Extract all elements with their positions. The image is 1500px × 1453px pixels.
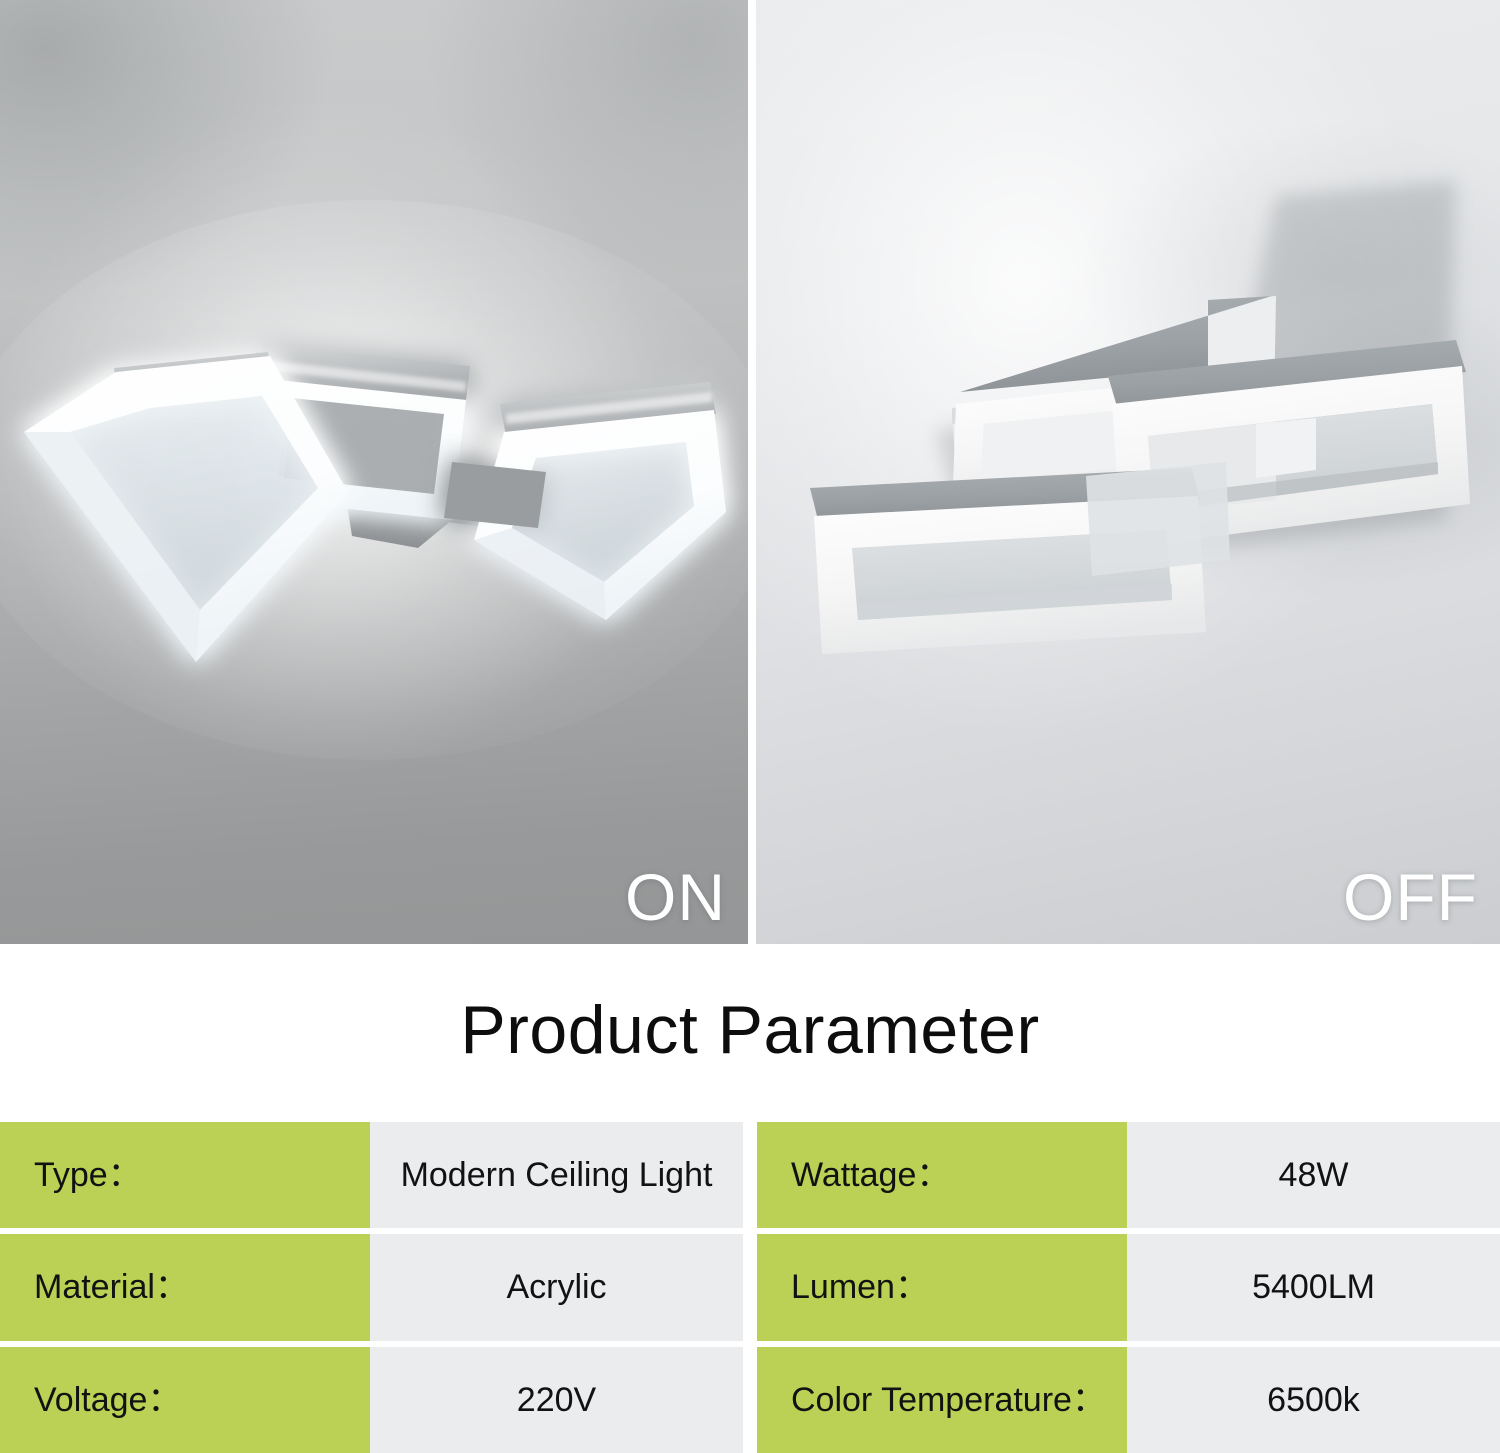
spec-label-text: Material： (34, 1270, 189, 1304)
photo-divider (748, 0, 756, 944)
spec-value-cell: 5400LM (1127, 1234, 1500, 1340)
product-photo-band: ON (0, 0, 1500, 944)
spec-table: Type： Modern Ceiling Light Material： Acr… (0, 1122, 1500, 1453)
spec-column-left: Type： Modern Ceiling Light Material： Acr… (0, 1122, 743, 1453)
page-title: Product Parameter (460, 996, 1039, 1070)
spec-row: Lumen： 5400LM (757, 1234, 1500, 1340)
page-title-wrap: Product Parameter (0, 944, 1500, 1122)
spec-label-cell: Voltage： (0, 1347, 370, 1453)
photo-state-label-on: ON (625, 864, 726, 930)
product-photo-off: OFF (756, 0, 1500, 944)
spec-value-cell: Acrylic (370, 1234, 743, 1340)
spec-value-text: 6500k (1267, 1383, 1360, 1417)
spec-value-cell: 48W (1127, 1122, 1500, 1228)
spec-column-right: Wattage： 48W Lumen： 5400LM Color Tempera… (757, 1122, 1500, 1453)
ceiling-light-fixture-off (756, 0, 1500, 944)
spec-value-cell: Modern Ceiling Light (370, 1122, 743, 1228)
fixture-mount-block (1086, 462, 1230, 576)
led-frame-right (444, 382, 726, 620)
spec-value-cell: 220V (370, 1347, 743, 1453)
spec-value-text: Modern Ceiling Light (401, 1158, 713, 1192)
spec-value-text: 5400LM (1252, 1270, 1375, 1304)
product-photo-on: ON (0, 0, 748, 944)
spec-label-text: Lumen： (791, 1270, 929, 1304)
spec-row: Material： Acrylic (0, 1234, 743, 1340)
spec-label-cell: Lumen： (757, 1234, 1127, 1340)
spec-label-cell: Wattage： (757, 1122, 1127, 1228)
ceiling-light-fixture-on (0, 0, 748, 944)
spec-value-cell: 6500k (1127, 1347, 1500, 1453)
spec-value-text: 48W (1279, 1158, 1349, 1192)
spec-value-text: 220V (517, 1383, 596, 1417)
spec-label-text: Type： (34, 1158, 142, 1192)
spec-value-text: Acrylic (506, 1270, 606, 1304)
spec-label-text: Voltage： (34, 1383, 181, 1417)
photo-state-label-off: OFF (1343, 864, 1478, 930)
product-listing-image: ON (0, 0, 1500, 1453)
spec-label-text: Color Temperature： (791, 1383, 1106, 1417)
spec-label-cell: Material： (0, 1234, 370, 1340)
spec-row: Color Temperature： 6500k (757, 1347, 1500, 1453)
spec-row: Type： Modern Ceiling Light (0, 1122, 743, 1228)
spec-row: Wattage： 48W (757, 1122, 1500, 1228)
spec-label-text: Wattage： (791, 1158, 950, 1192)
spec-label-cell: Color Temperature： (757, 1347, 1127, 1453)
spec-row: Voltage： 220V (0, 1347, 743, 1453)
spec-label-cell: Type： (0, 1122, 370, 1228)
